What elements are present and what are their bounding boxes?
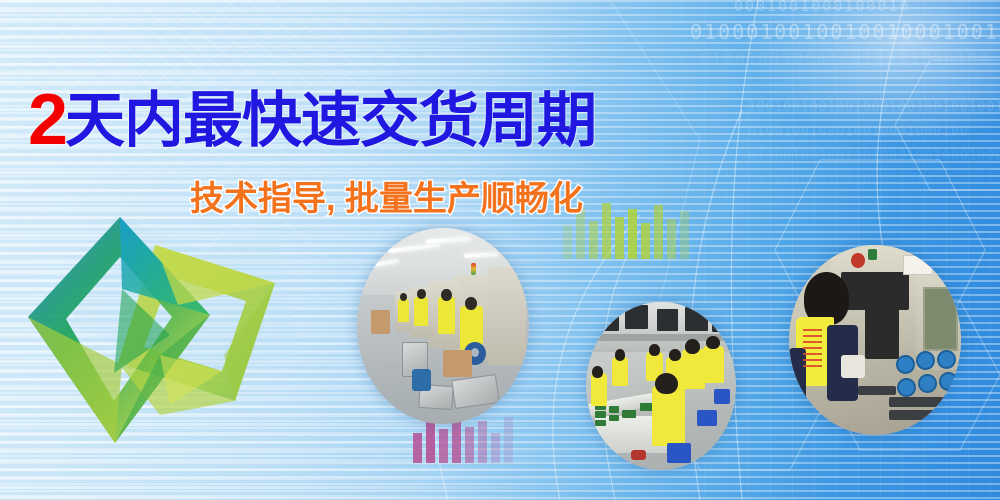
- equaliser-bar: [439, 429, 448, 463]
- photo-assembly: [586, 302, 736, 470]
- binary-vertical-line: 001001000100100010010: [748, 170, 1000, 195]
- equaliser-bar: [641, 223, 650, 259]
- equaliser-bar: [602, 203, 611, 259]
- equaliser-bar: [615, 217, 624, 259]
- binary-vertical-line: 1001001001001000100100100100100101001001: [748, 96, 1000, 121]
- binary-code-vertical: 1001001001001000100100100100100101001001…: [748, 96, 1000, 219]
- equaliser-bar: [491, 433, 500, 463]
- equaliser-bar: [465, 427, 474, 463]
- equaliser-bar: [413, 433, 422, 463]
- binary-line-1: 0001001000100010: [690, 0, 1000, 18]
- equaliser-bar: [563, 225, 572, 259]
- subtitle: 技术指导, 批量生产顺畅化: [190, 171, 583, 220]
- photo-smt-line: [357, 228, 529, 424]
- binary-vertical-line: 0100100100010010001000100: [748, 121, 1000, 146]
- equaliser-bar: [426, 419, 435, 463]
- photo-operator: [789, 245, 961, 435]
- equaliser-bar: [589, 221, 598, 259]
- equaliser-bar: [478, 421, 487, 463]
- binary-line-3: 0100100100010010001000100: [690, 47, 1000, 70]
- binary-vertical-line: 0001001000100010: [748, 195, 1000, 220]
- page-title: 2天内最快速交货周期: [28, 84, 596, 156]
- binary-vertical-line: 0100010010010010001001000100010: [748, 145, 1000, 170]
- binary-code-overlay: 0001001000100010 01000100100100100010010…: [690, 0, 1000, 90]
- equaliser-bar: [654, 205, 663, 259]
- binary-line-4: 001001000100100010010: [690, 70, 1000, 90]
- binary-line-2: 0100010010010010001001000100010: [690, 18, 1000, 47]
- equaliser-bar: [628, 209, 637, 259]
- headline-number: 2: [28, 84, 67, 156]
- promo-banner: 0001001000100010 01000100100100100010010…: [0, 0, 1000, 500]
- interlocking-squares-emblem: [10, 205, 310, 495]
- equaliser-bar: [667, 219, 676, 259]
- equaliser-bar: [680, 211, 689, 259]
- headline-text: 天内最快速交货周期: [65, 87, 596, 154]
